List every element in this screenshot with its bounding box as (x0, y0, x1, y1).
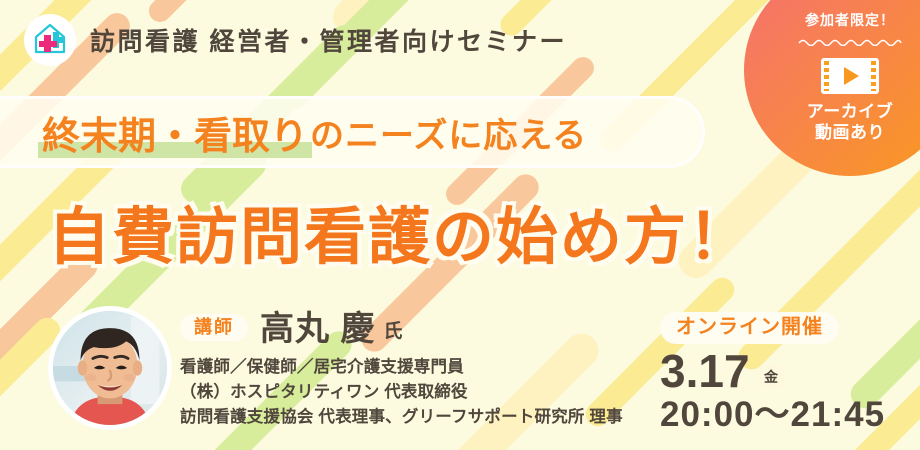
lecturer-badge: 講師 (180, 314, 248, 341)
archive-badge-bottom-label: アーカイブ 動画あり (807, 102, 893, 143)
event-time: 20:00〜21:45 (660, 397, 892, 434)
subheadline-highlight: 終末期・看取り (42, 105, 308, 160)
seminar-banner: 訪問看護 経営者・管理者向けセミナー 終末期・看取り のニーズに応える 自費訪問… (0, 0, 920, 450)
archive-badge-line-1: アーカイブ (807, 102, 893, 123)
speaker-name-row: 講師 高丸 慶 氏 (180, 312, 623, 346)
header: 訪問看護 経営者・管理者向けセミナー (24, 14, 567, 66)
page-title: 訪問看護 経営者・管理者向けセミナー (90, 22, 567, 58)
logo-circle (24, 14, 76, 66)
speaker-info: 講師 高丸 慶 氏 看護師／保健師／居宅介護支援専門員 （株）ホスピタリティワン… (180, 312, 623, 430)
speaker-portrait (53, 311, 167, 425)
event-date: 3.17 (660, 348, 750, 394)
archive-badge-line-2: 動画あり (807, 123, 893, 144)
film-perforation-left (824, 61, 829, 91)
subheadline-rest-text: のニーズに応える (310, 108, 587, 157)
event-format-badge: オンライン開催 (660, 312, 839, 344)
event-date-row: 3.17 金 (660, 348, 892, 394)
speaker-name: 高丸 慶 (260, 312, 375, 346)
archive-badge-top-label: 参加者限定！ (805, 10, 895, 30)
subheadline-highlight-text: 終末期・看取り (42, 116, 308, 158)
speaker-credentials: 看護師／保健師／居宅介護支援専門員 （株）ホスピタリティワン 代表取締役 訪問看… (180, 355, 623, 430)
speaker-credential-1: 看護師／保健師／居宅介護支援専門員 (180, 355, 623, 380)
speaker-credential-3: 訪問看護支援協会 代表理事、グリーフサポート研究所 理事 (180, 405, 623, 430)
main-title: 自費訪問看護の始め方！ (48, 186, 752, 276)
wavy-underline-icon (798, 33, 902, 51)
house-cross-logo-icon (32, 21, 68, 60)
film-play-icon (821, 58, 879, 94)
subheadline: 終末期・看取り のニーズに応える (42, 100, 587, 164)
speaker-credential-2: （株）ホスピタリティワン 代表取締役 (180, 380, 623, 405)
event-details: オンライン開催 3.17 金 20:00〜21:45 (660, 312, 892, 434)
play-triangle-icon (844, 67, 859, 85)
speaker-name-suffix: 氏 (383, 316, 402, 343)
avatar (48, 306, 172, 430)
film-perforation-right (871, 61, 876, 91)
event-day-of-week: 金 (758, 363, 785, 390)
